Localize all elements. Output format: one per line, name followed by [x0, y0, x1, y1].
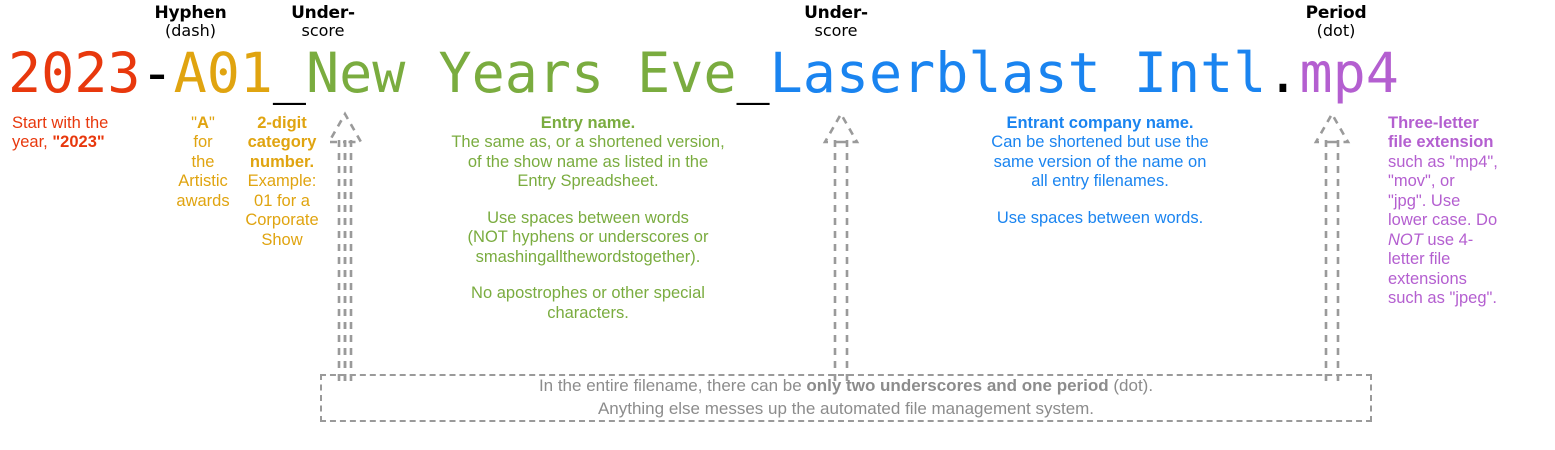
note-year-line-2-text: year, — [12, 133, 52, 151]
note-extension-heading-1: Three-letter — [1388, 114, 1548, 133]
note-extension-line-5-rest: use 4- — [1423, 231, 1473, 249]
note-extension-heading-2: file extension — [1388, 133, 1548, 152]
note-entry-name-p3-line-2: characters. — [388, 304, 788, 323]
note-extension-line-7: extensions — [1388, 270, 1548, 289]
note-category-number-body-3: Corporate — [236, 211, 328, 230]
separator-label-period: Period (dot) — [1277, 4, 1395, 40]
separator-label-underscore-1-name: Under- — [264, 4, 382, 22]
note-entry-name-p1-line-3: Entry Spreadsheet. — [388, 172, 788, 191]
filename-part-extension: mp4 — [1299, 46, 1398, 101]
separator-label-period-name: Period — [1277, 4, 1395, 22]
note-extension-line-8: such as "jpeg". — [1388, 289, 1548, 308]
note-category-letter-quote-close: " — [209, 114, 215, 132]
filename-part-year: 2023 — [8, 46, 140, 101]
note-extension-not-emphasis: NOT — [1388, 231, 1423, 249]
note-entry-name-p1-line-1: The same as, or a shortened version, — [388, 133, 788, 152]
arrow-period — [1305, 106, 1369, 382]
note-entry-name-p1-line-2: of the show name as listed in the — [388, 153, 788, 172]
filename-separator-hyphen: - — [140, 46, 173, 101]
note-category-number-body-1: Example: — [236, 172, 328, 191]
separator-label-hyphen: Hyphen (dash) — [128, 4, 253, 40]
example-filename: 2023 - A01 _ New Years Eve _ Laserblast … — [8, 40, 1399, 106]
bottom-callout-emphasis: only two underscores and one period — [806, 376, 1108, 395]
note-category-number-body-4: Show — [236, 231, 328, 250]
note-year-line-1: Start with the — [12, 114, 162, 133]
filename-separator-period: . — [1266, 46, 1299, 101]
filename-part-category: A01 — [174, 46, 273, 101]
separator-label-underscore-1-alt: score — [264, 22, 382, 39]
separator-label-underscore-2: Under- score — [777, 4, 895, 40]
bottom-callout-box: In the entire filename, there can be onl… — [320, 374, 1372, 422]
bottom-callout-line-1: In the entire filename, there can be onl… — [539, 375, 1153, 398]
note-company-gap-1 — [930, 192, 1270, 209]
note-category-letter-line-2: for — [168, 133, 238, 152]
note-category-letter: "A" for the Artistic awards — [168, 114, 238, 211]
separator-label-hyphen-alt: (dash) — [128, 22, 253, 39]
note-entry-name-p2-line-2: (NOT hyphens or underscores or — [388, 228, 788, 247]
note-company-p1-line-2: same version of the name on — [930, 153, 1270, 172]
note-entry-name: Entry name. The same as, or a shortened … — [388, 114, 788, 323]
separator-label-period-alt: (dot) — [1277, 22, 1395, 39]
note-category-number: 2-digit category number. Example: 01 for… — [236, 114, 328, 250]
separator-label-underscore-2-alt: score — [777, 22, 895, 39]
note-category-number-body-2: 01 for a — [236, 192, 328, 211]
note-entry-name-p2-line-3: smashingallthewordstogether). — [388, 248, 788, 267]
note-category-letter-line-5: awards — [168, 192, 238, 211]
note-company-p2-line-1: Use spaces between words. — [930, 209, 1270, 228]
bottom-callout-line-1-pre: In the entire filename, there can be — [539, 376, 806, 395]
note-extension: Three-letter file extension such as "mp4… — [1388, 114, 1548, 309]
note-category-number-heading-2: category — [236, 133, 328, 152]
filename-separator-underscore-1: _ — [273, 46, 306, 101]
note-extension-line-1: such as "mp4", — [1388, 153, 1548, 172]
note-category-number-heading-3: number. — [236, 153, 328, 172]
note-entry-name-p2-line-1: Use spaces between words — [388, 209, 788, 228]
note-extension-line-6: letter file — [1388, 250, 1548, 269]
note-extension-line-2: "mov", or — [1388, 172, 1548, 191]
note-category-number-heading-1: 2-digit — [236, 114, 328, 133]
note-extension-line-5: NOT use 4- — [1388, 231, 1548, 250]
note-extension-line-3: "jpg". Use — [1388, 192, 1548, 211]
filename-part-company: Laserblast Intl — [770, 46, 1267, 101]
arrow-underscore-2 — [814, 106, 878, 382]
separator-label-underscore-1: Under- score — [264, 4, 382, 40]
note-entry-name-p3-line-1: No apostrophes or other special — [388, 284, 788, 303]
note-category-letter-line-4: Artistic — [168, 172, 238, 191]
note-company-heading: Entrant company name. — [930, 114, 1270, 133]
note-category-letter-value: A — [197, 114, 209, 132]
note-year-line-2: year, "2023" — [12, 133, 162, 152]
note-category-letter-line-1: "A" — [168, 114, 238, 133]
note-company-p1-line-1: Can be shortened but use the — [930, 133, 1270, 152]
note-company-p1-line-3: all entry filenames. — [930, 172, 1270, 191]
note-year: Start with the year, "2023" — [12, 114, 162, 153]
note-company: Entrant company name. Can be shortened b… — [930, 114, 1270, 228]
note-category-letter-line-3: the — [168, 153, 238, 172]
note-year-value: "2023" — [52, 133, 104, 151]
separator-label-hyphen-name: Hyphen — [128, 4, 253, 22]
bottom-callout-line-2: Anything else messes up the automated fi… — [598, 398, 1094, 421]
note-entry-name-gap-1 — [388, 192, 788, 209]
filename-part-entry-name: New Years Eve — [306, 46, 736, 101]
separator-label-underscore-2-name: Under- — [777, 4, 895, 22]
note-extension-line-4: lower case. Do — [1388, 211, 1548, 230]
note-entry-name-heading: Entry name. — [388, 114, 788, 133]
bottom-callout-line-1-post: (dot). — [1109, 376, 1153, 395]
filename-separator-underscore-2: _ — [737, 46, 770, 101]
note-entry-name-gap-2 — [388, 267, 788, 284]
